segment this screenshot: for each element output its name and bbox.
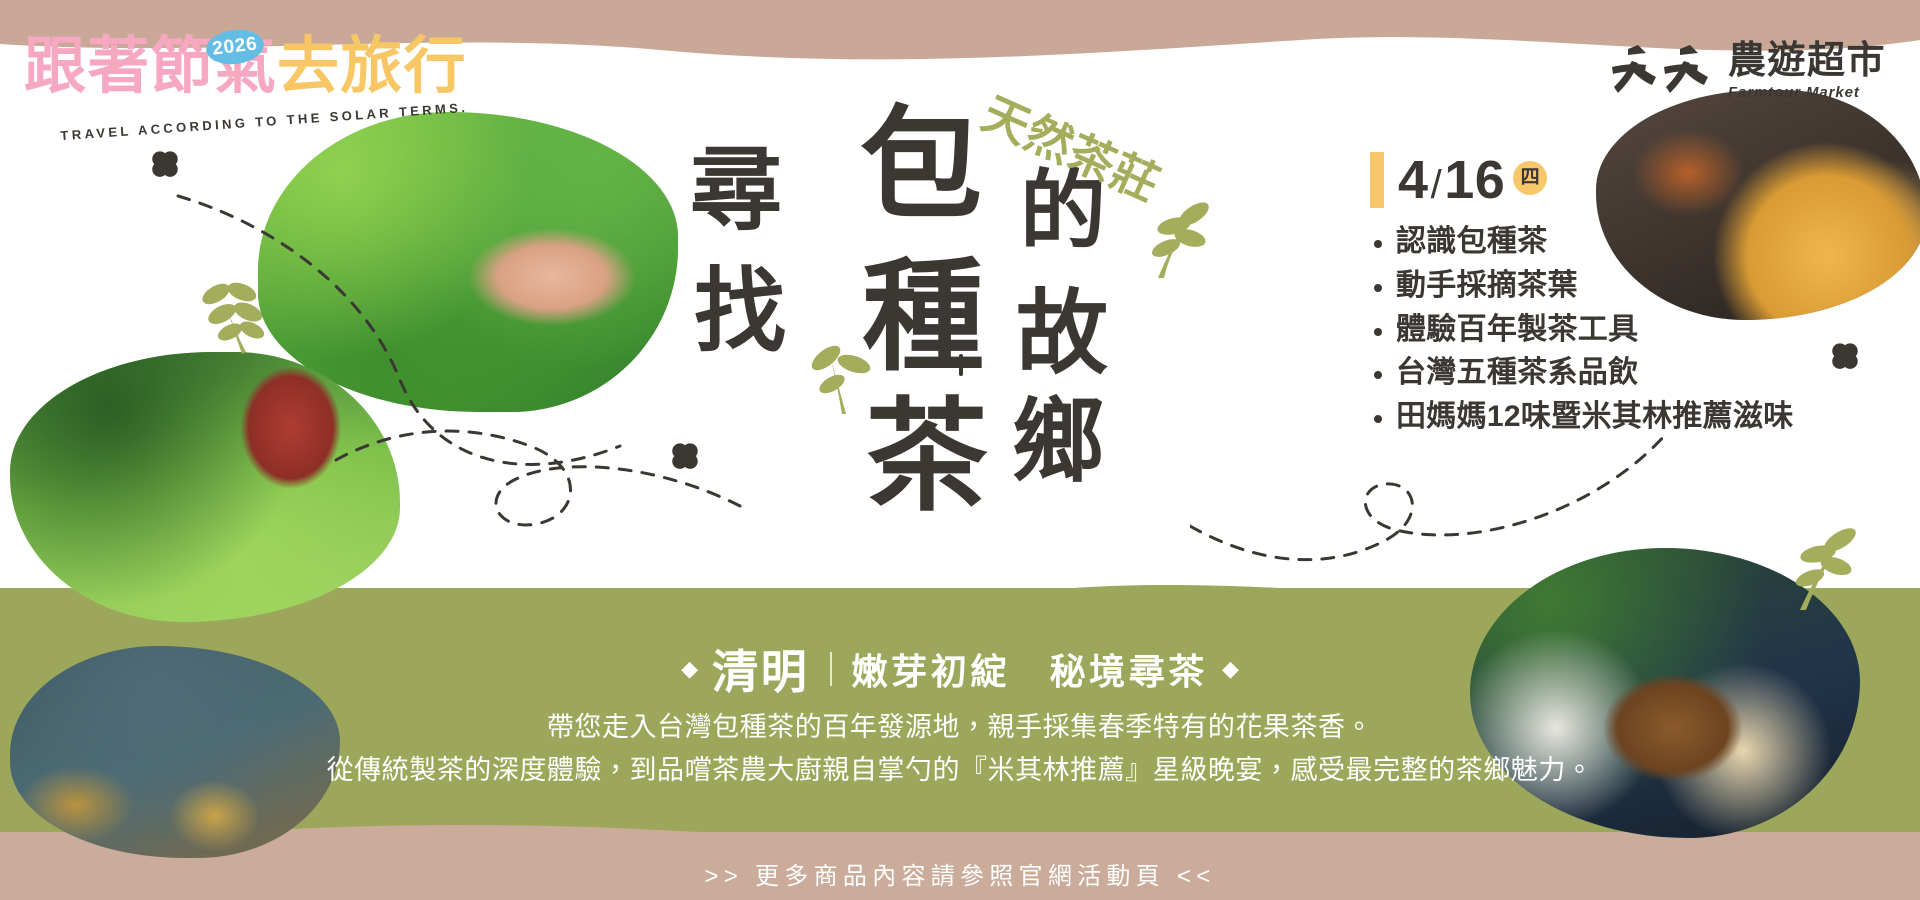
brand-logo[interactable]: 農遊超市 Farmtour Market <box>1608 32 1886 110</box>
bullet-item: 認識包種茶 <box>1370 220 1850 264</box>
event-info-panel: 4/16四 認識包種茶 動手採摘茶葉 體驗百年製茶工具 台灣五種茶系品飲 田媽媽… <box>1370 152 1850 439</box>
diamond-icon-left: ◆ <box>681 658 698 680</box>
clover-icon-left <box>148 148 182 182</box>
campaign-logo-zh-part1: 跟著節 <box>24 36 214 98</box>
brand-logo-en: Farmtour Market <box>1728 84 1860 101</box>
two-farmers-mark-icon <box>1608 43 1716 99</box>
headline-char-cha: 茶 <box>866 396 988 518</box>
campaign-logo-zh-part3: 去旅行 <box>277 36 467 98</box>
brand-logo-text: 農遊超市 Farmtour Market <box>1728 42 1886 101</box>
headline-char-gu: 故 <box>1016 288 1108 380</box>
photo-farmer-picking <box>10 352 400 622</box>
bullet-item: 動手採摘茶葉 <box>1370 264 1850 308</box>
farmer-picking-image <box>10 352 400 622</box>
headline-char-xun: 尋 <box>690 144 782 236</box>
event-date: 4/16四 <box>1398 153 1547 207</box>
solar-term-name: 清明 <box>712 636 810 702</box>
date-accent-bar <box>1370 152 1384 208</box>
event-date-row: 4/16四 <box>1370 152 1850 208</box>
headline-char-bao: 包 <box>860 104 982 226</box>
promo-banner: 跟著節氣去旅行 2026 TRAVEL ACCORDING TO THE SOL… <box>0 0 1920 900</box>
brand-logo-zh: 農遊超市 <box>1728 42 1886 80</box>
solar-term-row: ◆ 清明 嫩芽初綻 秘境尋茶 ◆ <box>0 636 1920 702</box>
description-line-1: 帶您走入台灣包種茶的百年發源地，親手採集春季特有的花果茶香。 <box>0 706 1920 749</box>
headline-char-zhao: 找 <box>694 266 786 358</box>
date-month: 4 <box>1398 150 1429 210</box>
photo-hand-tea-sprout <box>258 112 678 412</box>
date-separator: / <box>1431 163 1443 207</box>
activity-bullet-list: 認識包種茶 動手採摘茶葉 體驗百年製茶工具 台灣五種茶系品飲 田媽媽12味暨米其… <box>1370 220 1850 439</box>
campaign-logo: 跟著節氣去旅行 2026 TRAVEL ACCORDING TO THE SOL… <box>24 36 384 144</box>
solar-term-tagline: 嫩芽初綻 秘境尋茶 <box>852 643 1208 695</box>
bullet-item: 田媽媽12味暨米其林推薦滋味 <box>1370 395 1850 439</box>
bullet-item: 體驗百年製茶工具 <box>1370 308 1850 352</box>
hand-tea-sprout-image <box>258 112 678 412</box>
headline-char-xiang: 鄉 <box>1012 396 1104 488</box>
description-block: 帶您走入台灣包種茶的百年發源地，親手採集春季特有的花果茶香。 從傳統製茶的深度體… <box>0 706 1920 791</box>
term-divider <box>830 652 832 686</box>
day-of-week-badge: 四 <box>1513 161 1547 195</box>
date-day: 16 <box>1444 150 1505 210</box>
footer-note[interactable]: >> 更多商品內容請參照官網活動頁 << <box>0 856 1920 891</box>
diamond-icon-right: ◆ <box>1222 658 1239 680</box>
bullet-item: 台灣五種茶系品飲 <box>1370 351 1850 395</box>
headline-char-zhong: 種 <box>862 256 984 378</box>
description-line-2: 從傳統製茶的深度體驗，到品嚐茶農大廚親自掌勺的『米其林推薦』星級晚宴，感受最完整… <box>0 749 1920 792</box>
